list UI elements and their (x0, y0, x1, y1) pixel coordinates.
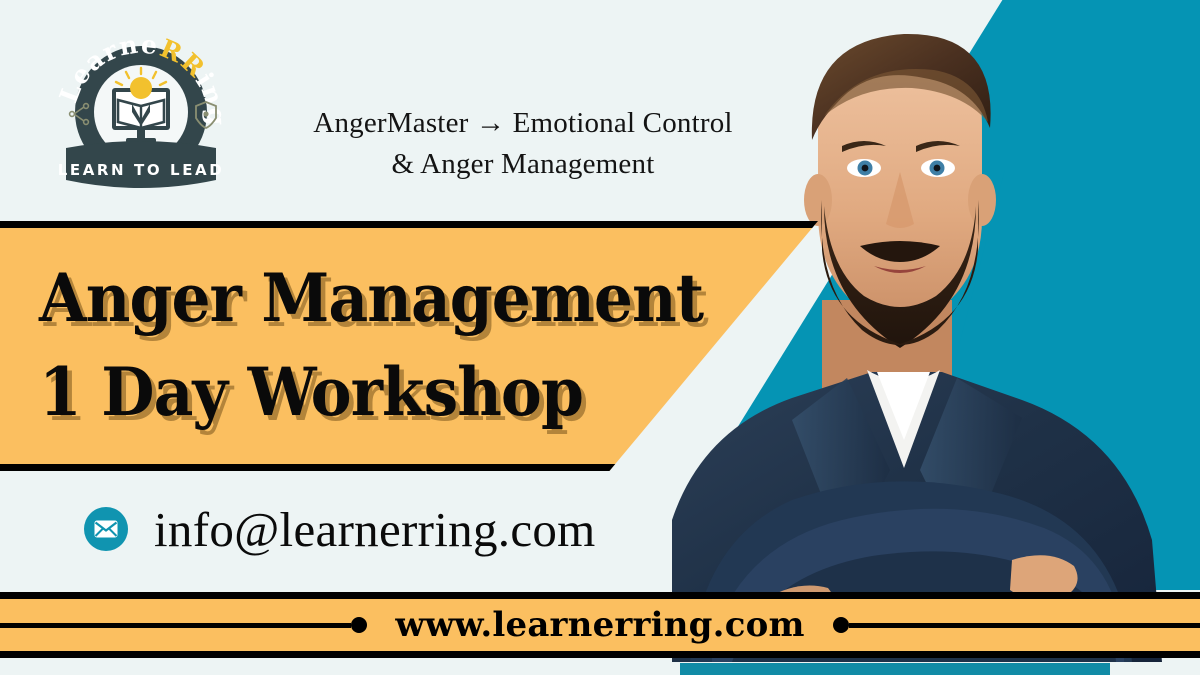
email-address[interactable]: info@learnerring.com (154, 501, 596, 558)
learnerring-logo: LearneRRing (56, 30, 226, 200)
tagline-line-2: & Anger Management (258, 144, 788, 185)
footer-dot-left (351, 617, 367, 633)
logo-ribbon-text: LEARN TO LEAD (58, 161, 225, 179)
website-url[interactable]: www.learnerring.com (395, 605, 804, 645)
footer-band: www.learnerring.com (0, 592, 1200, 658)
footer-dot-right (833, 617, 849, 633)
footer-rule-right (849, 623, 1200, 628)
footer-rule-left (0, 623, 351, 628)
envelope-icon (84, 507, 128, 551)
headline: Anger Management 1 Day Workshop (0, 228, 651, 464)
tagline-line-1: AngerMaster → Emotional Control (313, 107, 732, 139)
headline-line-2: 1 Day Workshop (39, 346, 651, 440)
teal-bottom-strip (680, 663, 1110, 675)
email-row[interactable]: info@learnerring.com (0, 488, 690, 570)
footer-inner: www.learnerring.com (0, 605, 1200, 645)
presenter-photo (672, 0, 1200, 662)
poster-canvas: LearneRRing (0, 0, 1200, 675)
headline-line-1: Anger Management (39, 252, 651, 346)
tagline: AngerMaster → Emotional Control & Anger … (258, 103, 788, 184)
